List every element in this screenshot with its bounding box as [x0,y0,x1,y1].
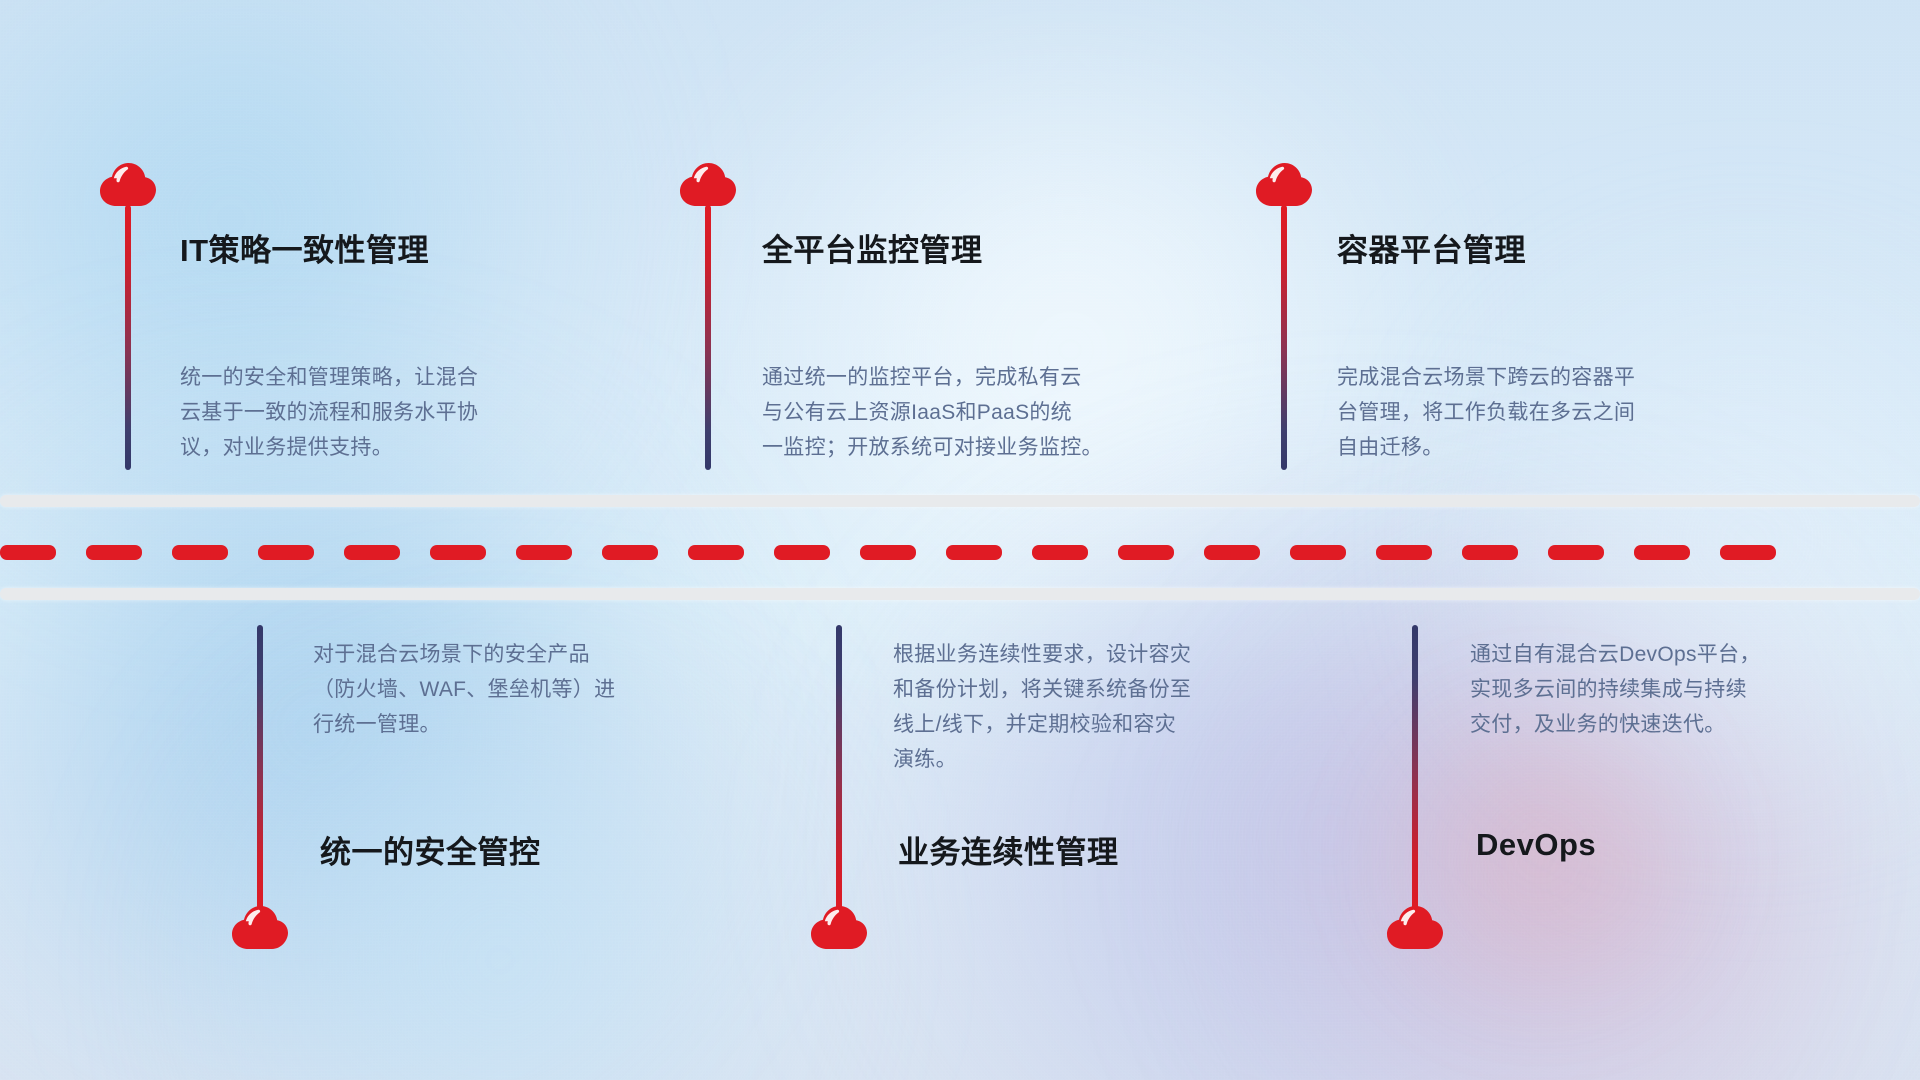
cloud-icon [1252,160,1316,208]
road-dash [430,545,486,560]
bottom-node-title: DevOps [1476,827,1596,863]
road-dash-line [0,545,1920,560]
road-dash [1032,545,1088,560]
cloud-icon [96,160,160,208]
top-node-title: 容器平台管理 [1337,225,1526,270]
road-dash [602,545,658,560]
road-dash [258,545,314,560]
road-dash [172,545,228,560]
stem-connector [1412,625,1418,915]
road-dash [1720,545,1776,560]
road-dash [1634,545,1690,560]
road-dash [860,545,916,560]
stem-connector [1281,205,1287,470]
top-node-title: 全平台监控管理 [762,225,983,270]
cloud-icon [1383,903,1447,951]
road-dash [1290,545,1346,560]
cloud-icon [676,160,740,208]
stem-connector [705,205,711,470]
bottom-node-description: 对于混合云场景下的安全产品 （防火墙、WAF、堡垒机等）进 行统一管理。 [313,637,763,742]
road-dash [946,545,1002,560]
cloud-icon [228,903,292,951]
road-dash [86,545,142,560]
top-node-description: 通过统一的监控平台，完成私有云 与公有云上资源IaaS和PaaS的统 一监控；开… [762,360,1232,465]
road-edge-top [0,495,1920,507]
road-dash [774,545,830,560]
road-edge-bottom [0,588,1920,600]
road-dash [0,545,56,560]
road-dash [344,545,400,560]
road-dash [1118,545,1174,560]
bottom-node-title: 业务连续性管理 [898,827,1119,872]
top-node-description: 完成混合云场景下跨云的容器平 台管理，将工作负载在多云之间 自由迁移。 [1337,360,1797,465]
stem-connector [125,205,131,470]
road-dash [1204,545,1260,560]
road-dash [516,545,572,560]
bottom-node-description: 通过自有混合云DevOps平台， 实现多云间的持续集成与持续 交付，及业务的快速… [1470,637,1920,742]
top-node-description: 统一的安全和管理策略，让混合 云基于一致的流程和服务水平协 议，对业务提供支持。 [180,360,620,465]
cloud-icon [807,903,871,951]
road-dash [688,545,744,560]
road-dash [1462,545,1518,560]
bottom-node-title: 统一的安全管控 [320,827,541,872]
stem-connector [836,625,842,915]
stem-connector [257,625,263,915]
top-node-title: IT策略一致性管理 [180,225,429,270]
road-dash [1548,545,1604,560]
bottom-node-description: 根据业务连续性要求，设计容灾 和备份计划，将关键系统备份至 线上/线下，并定期校… [893,637,1343,777]
road-dash [1376,545,1432,560]
